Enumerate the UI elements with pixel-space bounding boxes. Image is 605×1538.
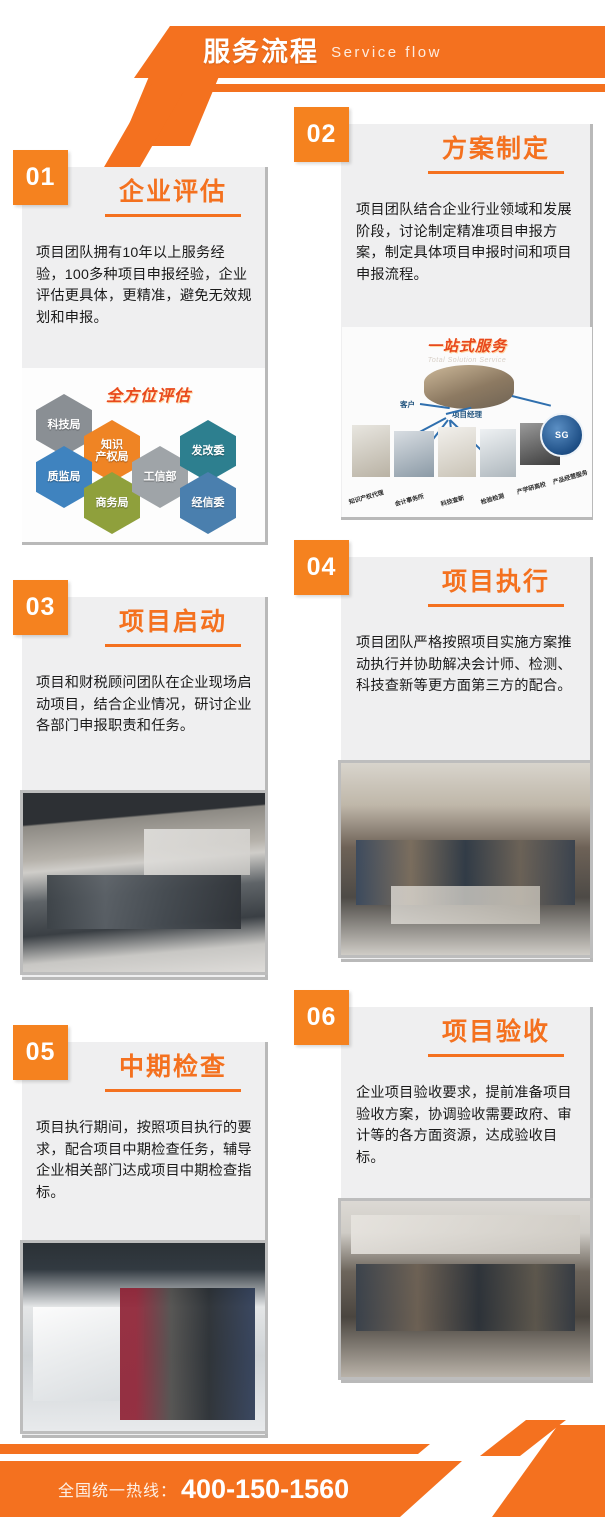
card-04-title-rule [428,604,564,607]
hex-label: 工信部 [144,471,177,483]
service-label-accounting: 会计事务所 [394,491,425,508]
card-03-number: 03 [26,593,56,622]
card-03-title-group: 项目启动 [88,602,258,647]
hex-label: 商务局 [96,497,129,509]
card-06-photo-scene [356,1264,575,1331]
card-06-title-group: 项目验收 [410,1012,582,1057]
card-04-photo-scene [391,886,540,924]
card-05-number: 05 [26,1038,56,1067]
footer-hotline-group: 全国统一热线： 400-150-1560 [0,1461,605,1517]
hex-jingxin-wei: 经信委 [180,472,236,534]
service-map-service-photo [352,425,390,477]
header-title-group: 服务流程 Service flow [0,26,605,78]
card-06-photo [338,1198,593,1380]
card-04-photo [338,760,593,958]
card-02-number-badge: 02 [294,107,349,162]
card-01-title: 企业评估 [88,172,258,208]
header-title-en: Service flow [331,45,442,60]
card-04-number: 04 [307,553,337,582]
card-03-photo-scene [47,875,241,929]
hex-diagram-title: 全方位评估 [106,382,191,406]
card-05-title-group: 中期检查 [88,1047,258,1092]
card-05-title: 中期检查 [88,1047,258,1083]
service-label-university: 产学研高校 [516,479,547,496]
card-05-photo-scene [120,1288,256,1420]
service-label-tech-search: 科技查新 [440,493,466,508]
hex-label: 科技局 [48,419,81,431]
card-02-title: 方案制定 [410,129,582,165]
service-map-certification-seal: SG [540,413,584,457]
card-06-number-badge: 06 [294,990,349,1045]
card-03-body: 项目和财税顾问团队在企业现场启动项目，结合企业情况，研讨企业各部门申报职责和任务… [36,673,252,738]
card-04-body: 项目团队严格按照项目实施方案推动执行并协助解决会计师、检测、科技查新等更方面第三… [356,633,578,698]
hex-shangwu-ju: 商务局 [84,472,140,534]
card-02-media-service-map: 一站式服务 Total Solution Service 客户 项目经理 SG … [342,327,592,517]
card-03-photo-scene [144,829,250,876]
card-03-title: 项目启动 [88,602,258,638]
card-05-title-rule [105,1089,241,1092]
card-06-photo-scene [351,1215,580,1254]
card-01-number: 01 [26,163,56,192]
card-05-number-badge: 05 [13,1025,68,1080]
card-02-body: 项目团队结合企业行业领域和发展阶段，讨论制定精准项目申报方案，制定具体项目申报时… [356,200,578,286]
service-map-subtitle: Total Solution Service [342,357,592,364]
service-map-service-photo [394,431,434,477]
card-06-body: 企业项目验收要求，提前准备项目验收方案，协调验收需要政府、审计等的各方面资源，达… [356,1083,578,1169]
card-05-body: 项目执行期间，按照项目执行的要求，配合项目中期检查任务，辅导企业相关部门达成项目… [36,1118,252,1204]
service-map-arrow [512,395,551,407]
footer-hotline-label: 全国统一热线： [58,1477,177,1501]
card-01-title-rule [105,214,241,217]
service-label-product-ops: 产品经营服务 [552,467,589,486]
card-06-number: 06 [307,1003,337,1032]
card-01-title-group: 企业评估 [88,172,258,217]
card-03-title-rule [105,644,241,647]
card-06-title: 项目验收 [410,1012,582,1048]
card-05-photo [20,1240,268,1434]
card-02-title-group: 方案制定 [410,129,582,174]
hex-label: 知识 产权局 [96,439,129,463]
seal-label: SG [555,430,569,440]
card-03-photo [20,790,268,975]
hex-zhijian-ju: 质监局 [36,446,92,508]
service-map-center-photo [424,365,514,409]
card-02-number: 02 [307,120,337,149]
card-04-number-badge: 04 [294,540,349,595]
card-02-title-rule [428,171,564,174]
service-label-ip-agency: 知识产权代理 [348,487,385,506]
footer-hotline-number[interactable]: 400-150-1560 [181,1474,349,1505]
card-04-title: 项目执行 [410,562,582,598]
hex-label: 经信委 [192,497,225,509]
card-03-number-badge: 03 [13,580,68,635]
service-map-service-photo [480,429,516,477]
service-label-inspection: 检验检测 [480,491,506,506]
service-map-title: 一站式服务 [342,335,592,356]
card-06-title-rule [428,1054,564,1057]
service-flow-poster: 服务流程 Service flow 01 企业评估 项目团队拥有10年以上服务经… [0,0,605,1538]
hex-label: 质监局 [48,471,81,483]
card-01-media-hex-diagram: 全方位评估 科技局 知识 产权局 质监局 商务局 工信部 发改委 经信委 [22,368,265,542]
service-map-service-photo [438,427,476,477]
header-title-cn: 服务流程 [203,39,319,66]
card-01-body: 项目团队拥有10年以上服务经验，100多种项目申报经验，企业评估更具体，更精准，… [36,243,252,329]
hex-gongxin-bu: 工信部 [132,446,188,508]
header-stripe [0,84,605,92]
card-04-title-group: 项目执行 [410,562,582,607]
hex-label: 发改委 [192,445,225,457]
service-map-node-customer: 客户 [400,399,415,410]
card-01-number-badge: 01 [13,150,68,205]
